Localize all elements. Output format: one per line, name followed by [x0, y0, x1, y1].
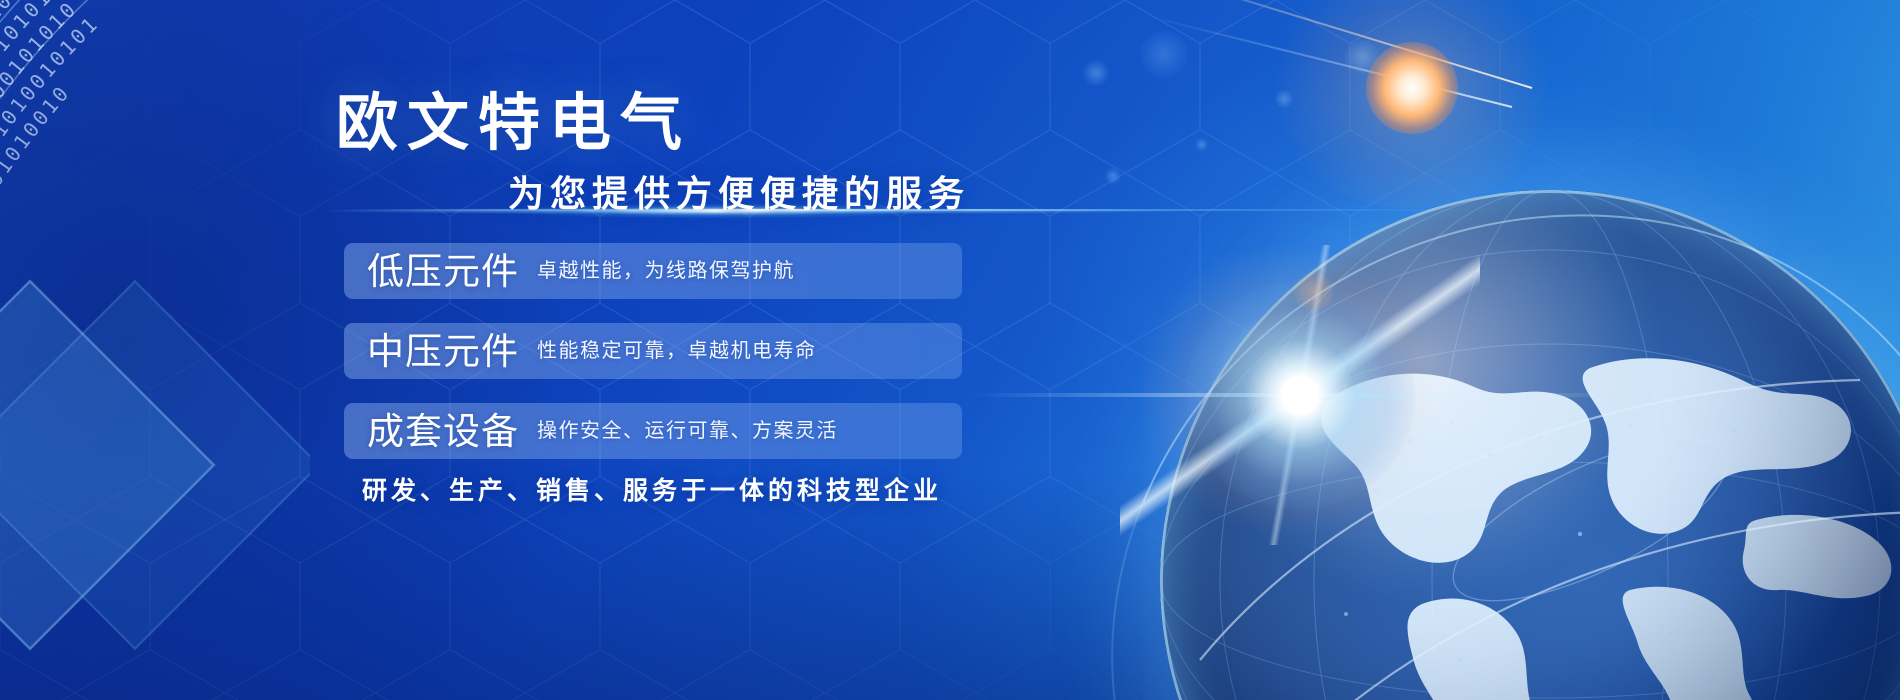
feature-title: 中压元件 [367, 333, 519, 370]
feature-title: 成套设备 [367, 413, 519, 450]
feature-bar-low-voltage[interactable]: 低压元件 卓越性能，为线路保驾护航 [344, 243, 962, 299]
banner-tagline: 研发、生产、销售、服务于一体的科技型企业 [0, 471, 1304, 507]
feature-description: 操作安全、运行可靠、方案灵活 [537, 421, 838, 441]
hero-banner: 0101001010100101010010101001010100101010… [0, 0, 1900, 700]
feature-description: 性能稳定可靠，卓越机电寿命 [537, 341, 817, 361]
feature-description: 卓越性能，为线路保驾护航 [537, 261, 795, 281]
feature-list: 低压元件 卓越性能，为线路保驾护航 中压元件 性能稳定可靠，卓越机电寿命 成套设… [344, 243, 962, 459]
feature-bar-complete-equipment[interactable]: 成套设备 操作安全、运行可靠、方案灵活 [344, 403, 962, 459]
banner-content: 欧文特电气 为您提供方便便捷的服务 低压元件 卓越性能，为线路保驾护航 中压元件… [0, 0, 1900, 700]
feature-bar-medium-voltage[interactable]: 中压元件 性能稳定可靠，卓越机电寿命 [344, 323, 962, 379]
banner-title: 欧文特电气 [336, 93, 691, 155]
feature-title: 低压元件 [367, 253, 519, 290]
banner-subtitle: 为您提供方便便捷的服务 [508, 176, 970, 212]
